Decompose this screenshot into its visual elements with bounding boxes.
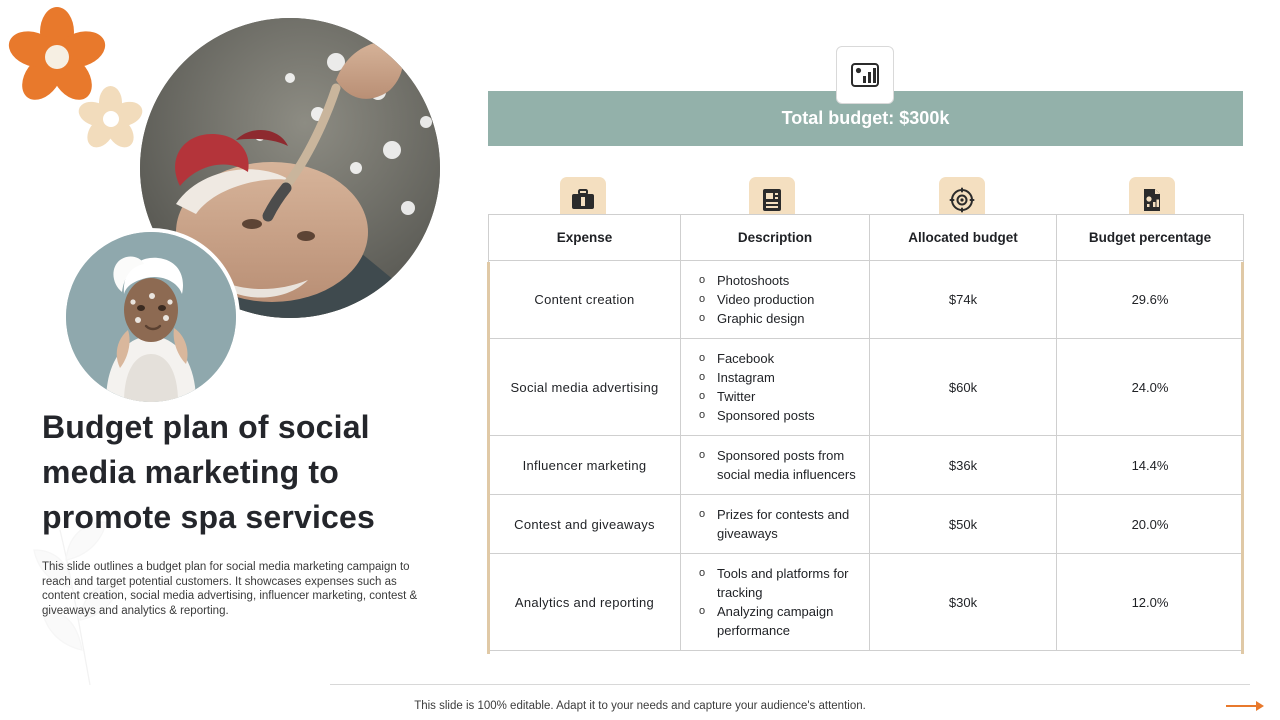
list-item: Instagram xyxy=(713,368,861,387)
cell-allocated-budget: $50k xyxy=(870,495,1057,554)
budget-table: Expense Description Allocated budget Bud… xyxy=(488,214,1244,651)
cell-description: Sponsored posts from social media influe… xyxy=(681,436,870,495)
cell-budget-percentage: 24.0% xyxy=(1057,339,1244,436)
report-chart-icon-glyph xyxy=(1139,187,1165,213)
list-item: Analyzing campaign performance xyxy=(713,602,861,640)
woman-in-bathrobe-photo xyxy=(62,228,240,406)
bar-chart-icon xyxy=(836,46,894,104)
table-row: Content creation Photoshoots Video produ… xyxy=(489,261,1244,339)
footer-note: This slide is 100% editable. Adapt it to… xyxy=(0,700,1280,712)
cell-description: Tools and platforms for tracking Analyzi… xyxy=(681,554,870,651)
column-header-description: Description xyxy=(681,215,870,261)
cell-allocated-budget: $74k xyxy=(870,261,1057,339)
list-item: Video production xyxy=(713,290,861,309)
cell-expense: Content creation xyxy=(489,261,681,339)
woman-in-bathrobe-image xyxy=(66,232,236,402)
list-item: Sponsored posts xyxy=(713,406,861,425)
list-item: Twitter xyxy=(713,387,861,406)
cell-description: Facebook Instagram Twitter Sponsored pos… xyxy=(681,339,870,436)
cell-expense: Social media advertising xyxy=(489,339,681,436)
cell-budget-percentage: 12.0% xyxy=(1057,554,1244,651)
list-item: Sponsored posts from social media influe… xyxy=(713,446,861,484)
table-row: Analytics and reporting Tools and platfo… xyxy=(489,554,1244,651)
cell-budget-percentage: 29.6% xyxy=(1057,261,1244,339)
list-item: Photoshoots xyxy=(713,271,861,290)
cell-description: Prizes for contests and giveaways xyxy=(681,495,870,554)
column-header-expense: Expense xyxy=(489,215,681,261)
cell-budget-percentage: 14.4% xyxy=(1057,436,1244,495)
briefcase-icon-glyph xyxy=(570,187,596,213)
cell-expense: Contest and giveaways xyxy=(489,495,681,554)
cell-budget-percentage: 20.0% xyxy=(1057,495,1244,554)
next-arrow-icon[interactable] xyxy=(1226,700,1266,712)
cell-allocated-budget: $60k xyxy=(870,339,1057,436)
list-item: Prizes for contests and giveaways xyxy=(713,505,861,543)
bar-chart-icon-glyph xyxy=(850,60,880,90)
table-row: Contest and giveaways Prizes for contest… xyxy=(489,495,1244,554)
document-list-icon-glyph xyxy=(759,187,785,213)
table-header-row: Expense Description Allocated budget Bud… xyxy=(489,215,1244,261)
cell-allocated-budget: $30k xyxy=(870,554,1057,651)
cell-expense: Influencer marketing xyxy=(489,436,681,495)
table-row: Social media advertising Facebook Instag… xyxy=(489,339,1244,436)
total-budget-label: Total budget: $300k xyxy=(782,108,950,129)
target-icon-glyph xyxy=(949,187,975,213)
footer-divider xyxy=(330,684,1250,685)
list-item: Facebook xyxy=(713,349,861,368)
table-left-accent xyxy=(487,262,490,654)
page-title: Budget plan of social media marketing to… xyxy=(42,405,442,540)
page-subtitle: This slide outlines a budget plan for so… xyxy=(42,560,437,618)
list-item: Tools and platforms for tracking xyxy=(713,564,861,602)
list-item: Graphic design xyxy=(713,309,861,328)
cell-allocated-budget: $36k xyxy=(870,436,1057,495)
column-header-allocated-budget: Allocated budget xyxy=(870,215,1057,261)
table-right-accent xyxy=(1241,262,1244,654)
cell-expense: Analytics and reporting xyxy=(489,554,681,651)
table-row: Influencer marketing Sponsored posts fro… xyxy=(489,436,1244,495)
column-header-budget-percentage: Budget percentage xyxy=(1057,215,1244,261)
cell-description: Photoshoots Video production Graphic des… xyxy=(681,261,870,339)
